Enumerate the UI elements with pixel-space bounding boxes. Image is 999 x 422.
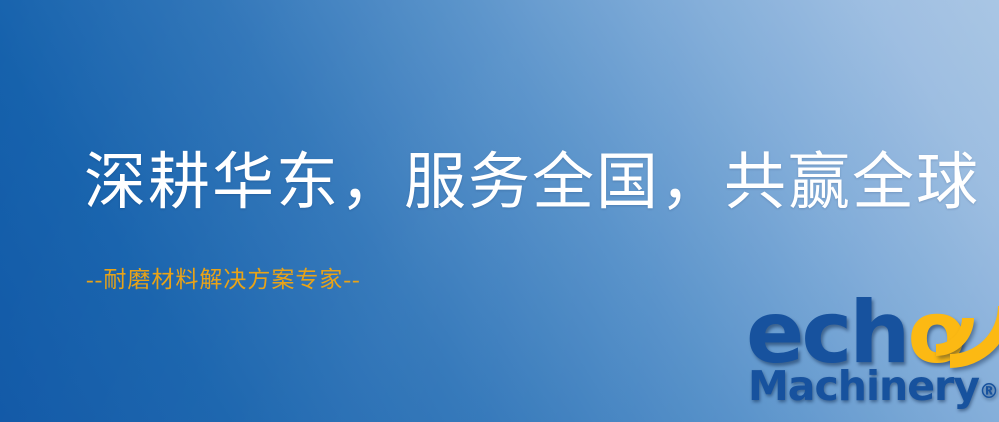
- logo-tagline-text: Machinery: [748, 362, 979, 410]
- promo-banner: 深耕华东，服务全国，共赢全球 --耐磨材料解决方案专家-- echo Machi…: [0, 0, 999, 422]
- banner-headline: 深耕华东，服务全国，共赢全球: [84, 152, 980, 214]
- banner-subtitle: --耐磨材料解决方案专家--: [86, 268, 361, 291]
- echo-machinery-logo[interactable]: echo Machinery®: [742, 296, 999, 422]
- registered-trademark-icon: ®: [979, 379, 999, 403]
- logo-tagline: Machinery®: [748, 366, 999, 407]
